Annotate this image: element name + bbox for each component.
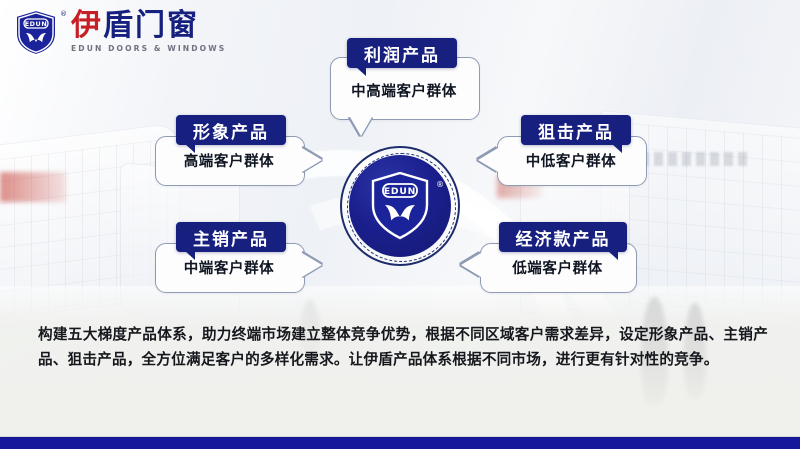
callout-image-segment: 高端客户群体 bbox=[155, 146, 303, 174]
callout-sniper-title[interactable]: 狙击产品 bbox=[521, 115, 631, 145]
callout-sniper-tail bbox=[478, 148, 498, 172]
callout-profit-segment: 中高端客户群体 bbox=[330, 75, 478, 105]
brand-logo: EDUN ® 伊盾门窗 EDUN DOORS & WINDOWS bbox=[14, 9, 226, 56]
callout-image-title[interactable]: 形象产品 bbox=[176, 115, 286, 145]
brand-name-en: EDUN DOORS & WINDOWS bbox=[71, 44, 226, 53]
callout-economy-tail bbox=[461, 253, 481, 277]
description-paragraph: 构建五大梯度产品体系，助力终端市场建立整体竞争优势，根据不同区域客户需求差异，设… bbox=[38, 322, 768, 372]
emblem-shield-icon: EDUN ® bbox=[370, 172, 430, 240]
brand-name-accent-char: 伊 bbox=[71, 8, 103, 43]
callout-economy-title[interactable]: 经济款产品 bbox=[499, 222, 627, 252]
registered-mark-icon: ® bbox=[60, 10, 67, 18]
callout-mainsale-segment: 中端客户群体 bbox=[155, 253, 303, 281]
callout-profit-tail bbox=[350, 117, 372, 136]
callout-mainsale-tail bbox=[302, 253, 322, 277]
center-emblem: EDUN ® bbox=[340, 146, 460, 266]
callout-image-tail bbox=[302, 148, 322, 172]
svg-text:EDUN: EDUN bbox=[384, 186, 416, 197]
shield-logo-icon: EDUN ® bbox=[14, 9, 58, 56]
brand-name-rest: 盾门窗 bbox=[103, 8, 199, 43]
svg-text:EDUN: EDUN bbox=[25, 20, 48, 28]
callout-profit-title[interactable]: 利润产品 bbox=[347, 38, 457, 68]
brand-name-cn: 伊盾门窗 bbox=[71, 9, 226, 43]
brand-logo-text: 伊盾门窗 EDUN DOORS & WINDOWS bbox=[71, 9, 226, 53]
background-red-signage-left bbox=[0, 172, 66, 202]
emblem-registered-mark-icon: ® bbox=[436, 180, 444, 189]
bottom-accent-bar bbox=[0, 437, 800, 449]
callout-mainsale-title[interactable]: 主销产品 bbox=[176, 222, 286, 252]
callout-sniper-segment: 中低客户群体 bbox=[497, 146, 645, 174]
slide-canvas: EDUN ® 伊盾门窗 EDUN DOORS & WINDOWS EDUN ® bbox=[0, 0, 800, 449]
background-storefront-text bbox=[640, 152, 750, 166]
